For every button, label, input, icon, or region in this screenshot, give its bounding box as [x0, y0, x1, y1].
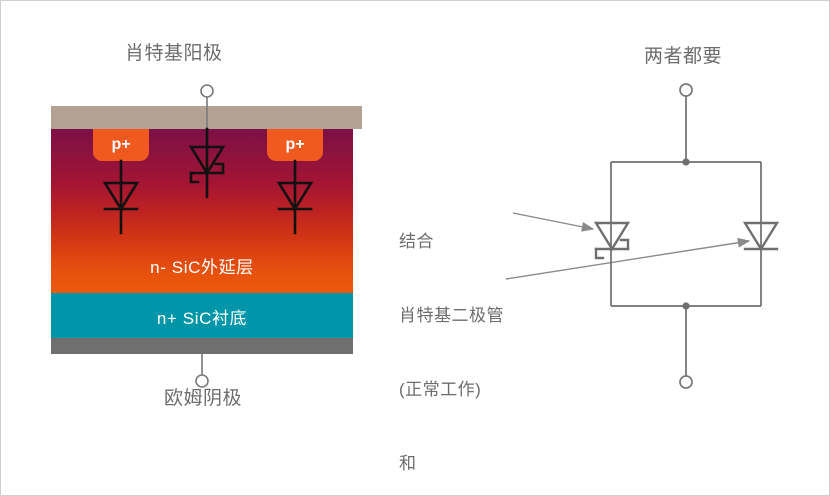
label-ohmic-cathode: 欧姆阴极 [164, 386, 242, 411]
substrate-layer-label: n+ SiC衬底 [51, 304, 353, 329]
annotation-line-1: 结合 [399, 230, 516, 255]
annotation-arrow-schottky [513, 213, 593, 229]
schottky-anode-metal-layer [51, 106, 362, 129]
annotation-arrow-pn [506, 241, 749, 279]
label-both-needed: 两者都要 [644, 44, 722, 69]
label-schottky-anode: 肖特基阳极 [125, 41, 223, 66]
circuit-schematic [611, 84, 761, 388]
p-plus-well-right: p+ [267, 129, 323, 161]
epi-layer-label: n- SiC外延层 [51, 253, 353, 278]
p-plus-well-left: p+ [93, 129, 149, 161]
diagram-canvas: 肖特基阳极 欧姆阴极 两者都要 p+ p+ n- SiC外延层 n+ SiC衬底… [0, 0, 830, 496]
cathode-terminal [196, 354, 208, 387]
circuit-schottky-diode [596, 223, 628, 258]
ohmic-cathode-metal-layer [51, 338, 353, 354]
annotation-text-block: 结合 肖特基二极管 (正常工作) 和 PN二极管 (浪涌电流事件) [399, 181, 516, 496]
circuit-pn-diode [745, 223, 777, 249]
annotation-line-3: (正常工作) [399, 378, 516, 403]
annotation-line-4: 和 [399, 452, 516, 477]
annotation-line-2: 肖特基二极管 [399, 304, 516, 329]
